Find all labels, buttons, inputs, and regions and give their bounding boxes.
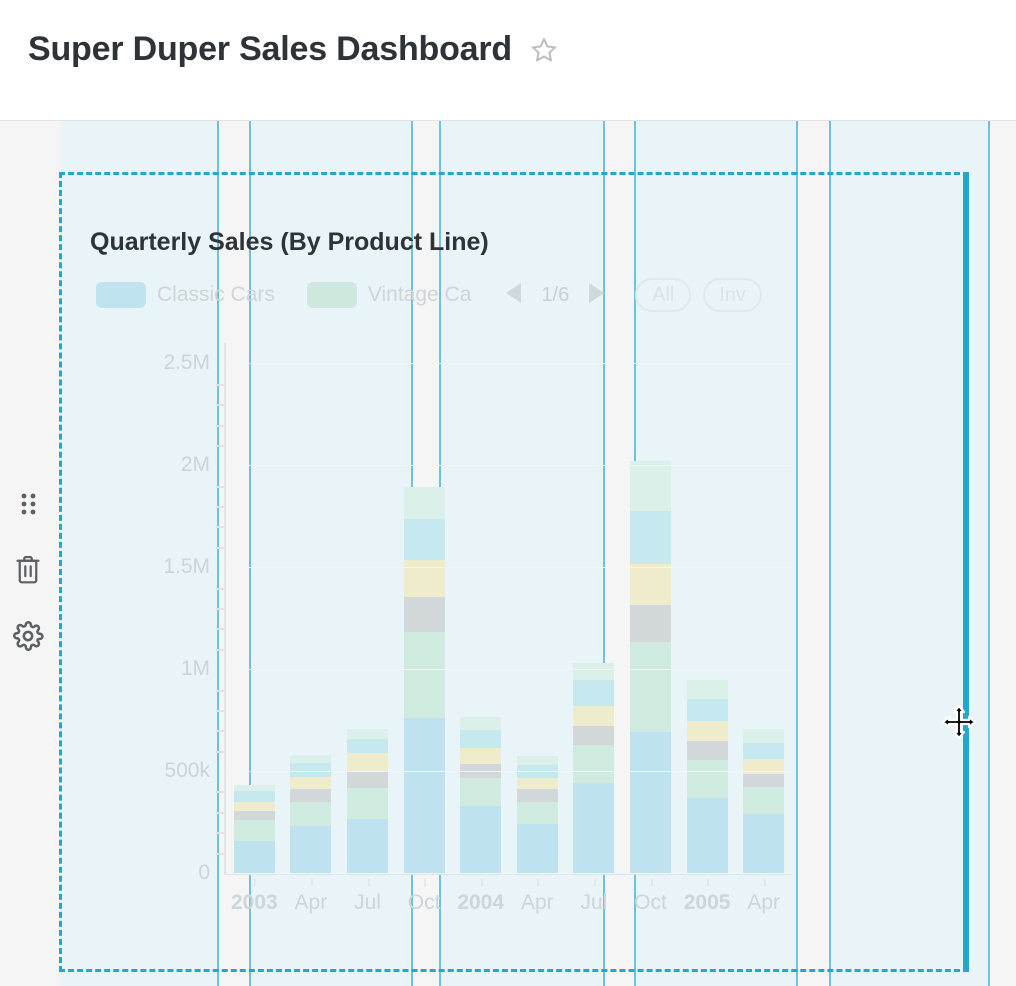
y-axis-minor-tick [216, 751, 225, 753]
dashboard-header: Super Duper Sales Dashboard [0, 0, 1016, 120]
legend-label: Vintage Ca [368, 283, 472, 307]
header-title-group: Super Duper Sales Dashboard [28, 32, 558, 66]
y-axis-tick-label: 2.5M [163, 351, 210, 375]
bar-segment[interactable] [290, 755, 331, 763]
x-axis-tick [594, 879, 596, 886]
x-axis-tick [368, 879, 370, 886]
bar-segment[interactable] [630, 642, 671, 733]
y-gridline [226, 465, 792, 466]
bar-stack[interactable] [460, 717, 501, 873]
chart-plot-area: 0500k1M1.5M2M2.5M 2003AprJulOct2004AprJu… [96, 343, 936, 903]
y-axis-tick-label: 0 [198, 861, 210, 885]
legend-next-icon[interactable] [583, 280, 607, 311]
bar-segment[interactable] [347, 819, 388, 873]
y-axis-minor-tick [216, 588, 225, 590]
bar-segment[interactable] [573, 783, 614, 873]
bar-segment[interactable] [234, 811, 275, 820]
y-gridline [226, 567, 792, 568]
y-axis-minor-tick [216, 791, 225, 793]
x-axis-tick-label: Jul [580, 891, 607, 915]
grid-line [988, 121, 990, 986]
bar-segment[interactable] [347, 788, 388, 819]
legend-label: Classic Cars [157, 283, 275, 307]
chart-title: Quarterly Sales (By Product Line) [90, 228, 489, 257]
y-axis-minor-tick [216, 384, 225, 386]
drag-handle-icon[interactable] [10, 486, 46, 522]
bar-segment[interactable] [630, 732, 671, 873]
bar-segment[interactable] [687, 741, 728, 760]
bar-stack[interactable] [290, 755, 331, 873]
y-axis-tick-label: 1M [181, 657, 210, 681]
bar-segment[interactable] [347, 739, 388, 753]
bar-stack[interactable] [517, 756, 558, 873]
legend-inv-button[interactable]: Inv [703, 278, 762, 312]
y-axis-minor-tick [216, 547, 225, 549]
x-axis-tick-label: 2003 [231, 891, 278, 915]
bar-segment[interactable] [290, 777, 331, 789]
bar-segment[interactable] [404, 487, 445, 520]
y-axis-minor-tick [216, 649, 225, 651]
bar-segment[interactable] [743, 787, 784, 814]
bar-segment[interactable] [743, 774, 784, 787]
y-axis-minor-tick [216, 608, 225, 610]
bar-stack[interactable] [630, 461, 671, 873]
bar-segment[interactable] [573, 726, 614, 744]
bar-segment[interactable] [573, 680, 614, 705]
bar-segment[interactable] [234, 820, 275, 841]
legend-swatch-vintage-cars [307, 282, 357, 308]
trash-icon[interactable] [10, 552, 46, 588]
bar-segment[interactable] [347, 753, 388, 771]
x-axis-tick [537, 879, 539, 886]
bar-segment[interactable] [404, 718, 445, 873]
star-icon[interactable] [530, 36, 558, 64]
bar-segment[interactable] [573, 663, 614, 680]
bar-stack[interactable] [573, 663, 614, 873]
bar-segment[interactable] [404, 597, 445, 633]
bar-segment[interactable] [687, 721, 728, 740]
x-axis-tick [707, 879, 709, 886]
y-axis-minor-tick [216, 812, 225, 814]
bar-segment[interactable] [460, 748, 501, 764]
y-axis-minor-tick [216, 425, 225, 427]
x-axis-tick-label: Jul [354, 891, 381, 915]
y-axis-minor-tick [216, 526, 225, 528]
y-axis-tick-label: 500k [164, 759, 210, 783]
bar-segment[interactable] [743, 743, 784, 759]
widget-resize-handle[interactable] [963, 172, 969, 972]
bar-segment[interactable] [630, 605, 671, 642]
x-axis-tick-label: Apr [747, 891, 780, 915]
bar-segment[interactable] [517, 789, 558, 801]
bar-segment[interactable] [517, 778, 558, 789]
y-axis-minor-tick [216, 690, 225, 692]
bar-segment[interactable] [404, 519, 445, 560]
legend-page-count: 1/6 [541, 284, 569, 307]
y-axis: 0500k1M1.5M2M2.5M [96, 343, 216, 873]
gear-icon[interactable] [10, 618, 46, 654]
x-axis-tick-label: Oct [634, 891, 667, 915]
bar-segment[interactable] [630, 511, 671, 564]
bar-segment[interactable] [573, 706, 614, 726]
y-gridline [226, 873, 792, 874]
y-gridline [226, 363, 792, 364]
legend-swatch-classic-cars [96, 282, 146, 308]
x-axis: 2003AprJulOct2004AprJulOct2005Apr [224, 879, 794, 919]
legend-item[interactable]: Classic Cars [96, 282, 275, 308]
bar-segment[interactable] [404, 560, 445, 597]
bar-segment[interactable] [460, 806, 501, 873]
x-axis-tick [311, 879, 313, 886]
bar-segment[interactable] [687, 760, 728, 798]
y-axis-minor-tick [216, 832, 225, 834]
y-axis-minor-tick [216, 445, 225, 447]
legend-all-button[interactable]: All [635, 278, 691, 312]
x-axis-tick-label: Apr [295, 891, 328, 915]
quarterly-sales-chart: Quarterly Sales (By Product Line) Classi… [60, 173, 968, 971]
bar-segment[interactable] [517, 802, 558, 824]
x-axis-tick [481, 879, 483, 886]
bar-segment[interactable] [347, 771, 388, 788]
bar-stack[interactable] [687, 680, 728, 873]
bar-segment[interactable] [290, 789, 331, 801]
chart-legend: Classic Cars Vintage Ca 1/6 All Inv [96, 277, 774, 313]
y-axis-minor-tick [216, 486, 225, 488]
y-axis-minor-tick [216, 853, 225, 855]
bar-segment[interactable] [460, 778, 501, 806]
bar-group [226, 343, 792, 873]
y-gridline [226, 771, 792, 772]
bar-segment[interactable] [290, 802, 331, 826]
y-axis-minor-tick [216, 404, 225, 406]
bar-segment[interactable] [743, 729, 784, 742]
bar-segment[interactable] [234, 791, 275, 801]
y-axis-minor-tick [216, 506, 225, 508]
y-axis-tick-label: 1.5M [163, 555, 210, 579]
widget-toolbar [8, 486, 48, 654]
x-axis-tick-label: 2004 [457, 891, 504, 915]
legend-prev-icon[interactable] [503, 280, 527, 311]
y-axis-minor-tick [216, 730, 225, 732]
y-axis-minor-tick [216, 710, 225, 712]
bar-segment[interactable] [347, 729, 388, 738]
bar-segment[interactable] [687, 798, 728, 873]
bar-segment[interactable] [234, 802, 275, 811]
x-axis-tick [254, 879, 256, 886]
bar-stack[interactable] [404, 487, 445, 873]
chart-widget[interactable]: Quarterly Sales (By Product Line) Classi… [60, 173, 968, 971]
bar-segment[interactable] [460, 717, 501, 730]
dashboard-canvas[interactable]: Quarterly Sales (By Product Line) Classi… [0, 121, 1016, 986]
bar-stack[interactable] [234, 785, 275, 873]
bar-stack[interactable] [347, 729, 388, 873]
bar-segment[interactable] [404, 632, 445, 718]
bar-segment[interactable] [630, 564, 671, 605]
x-axis-tick-label: 2005 [684, 891, 731, 915]
x-axis-tick [764, 879, 766, 886]
bar-segment[interactable] [517, 756, 558, 765]
bar-segment[interactable] [630, 461, 671, 511]
bar-segment[interactable] [517, 824, 558, 873]
bar-stack[interactable] [743, 729, 784, 873]
legend-pagination: 1/6 [503, 280, 607, 311]
x-axis-tick [651, 879, 653, 886]
x-axis-tick-label: Apr [521, 891, 554, 915]
y-axis-tick-label: 2M [181, 453, 210, 477]
bar-segment[interactable] [234, 841, 275, 873]
page-title: Super Duper Sales Dashboard [28, 32, 512, 66]
x-axis-tick-label: Oct [408, 891, 441, 915]
y-axis-minor-tick [216, 628, 225, 630]
bar-segment[interactable] [290, 826, 331, 873]
y-gridline [226, 669, 792, 670]
bar-segment[interactable] [687, 699, 728, 721]
x-axis-tick [424, 879, 426, 886]
bar-segment[interactable] [687, 680, 728, 698]
bar-segment[interactable] [573, 745, 614, 784]
bar-segment[interactable] [460, 730, 501, 747]
legend-item[interactable]: Vintage Ca [307, 282, 472, 308]
bar-segment[interactable] [743, 814, 784, 873]
